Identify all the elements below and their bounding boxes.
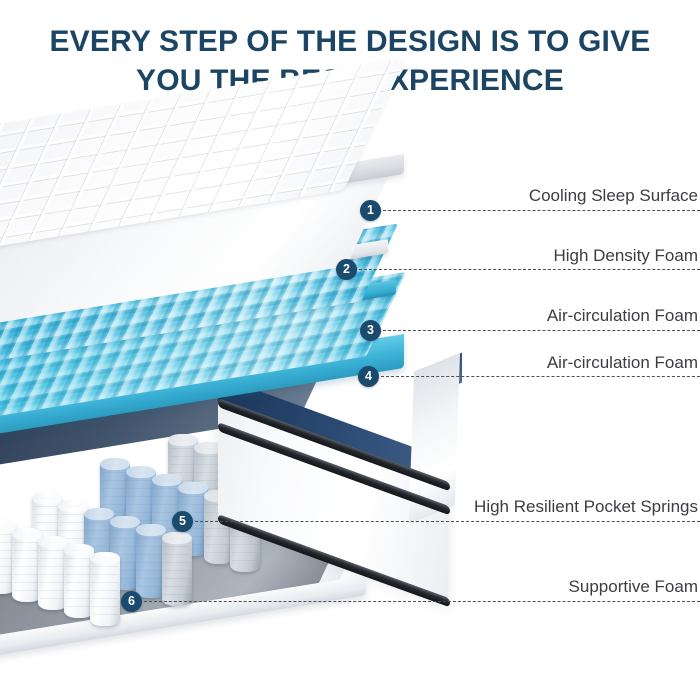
callout-line-5 — [195, 521, 700, 522]
callout-line-4 — [381, 376, 700, 377]
layer-number-badge-3[interactable]: 3 — [360, 320, 381, 341]
callout-label-1: Cooling Sleep Surface — [400, 186, 698, 206]
layer-number-badge-5[interactable]: 5 — [172, 511, 193, 532]
callout-line-1 — [383, 210, 700, 211]
callout-label-5: High Resilient Pocket Springs — [390, 497, 698, 517]
callout-label-6: Supportive Foam — [390, 577, 698, 597]
callout-label-3: Air-circulation Foam — [400, 306, 698, 326]
infographic-canvas: EVERY STEP OF THE DESIGN IS TO GIVE YOU … — [0, 0, 700, 700]
layer-1-cooling-sleep-surface — [0, 126, 406, 261]
callout-line-2 — [359, 269, 700, 270]
layer-number-badge-1[interactable]: 1 — [360, 200, 381, 221]
layer-number-badge-2[interactable]: 2 — [336, 259, 357, 280]
page-title-line-1: EVERY STEP OF THE DESIGN IS TO GIVE — [49, 25, 650, 58]
layer-number-badge-6[interactable]: 6 — [121, 591, 142, 612]
callout-line-3 — [383, 330, 700, 331]
callout-line-6 — [144, 601, 700, 602]
callout-label-4: Air-circulation Foam — [400, 353, 698, 373]
callout-label-2: High Density Foam — [400, 246, 698, 266]
layer-number-badge-4[interactable]: 4 — [358, 366, 379, 387]
